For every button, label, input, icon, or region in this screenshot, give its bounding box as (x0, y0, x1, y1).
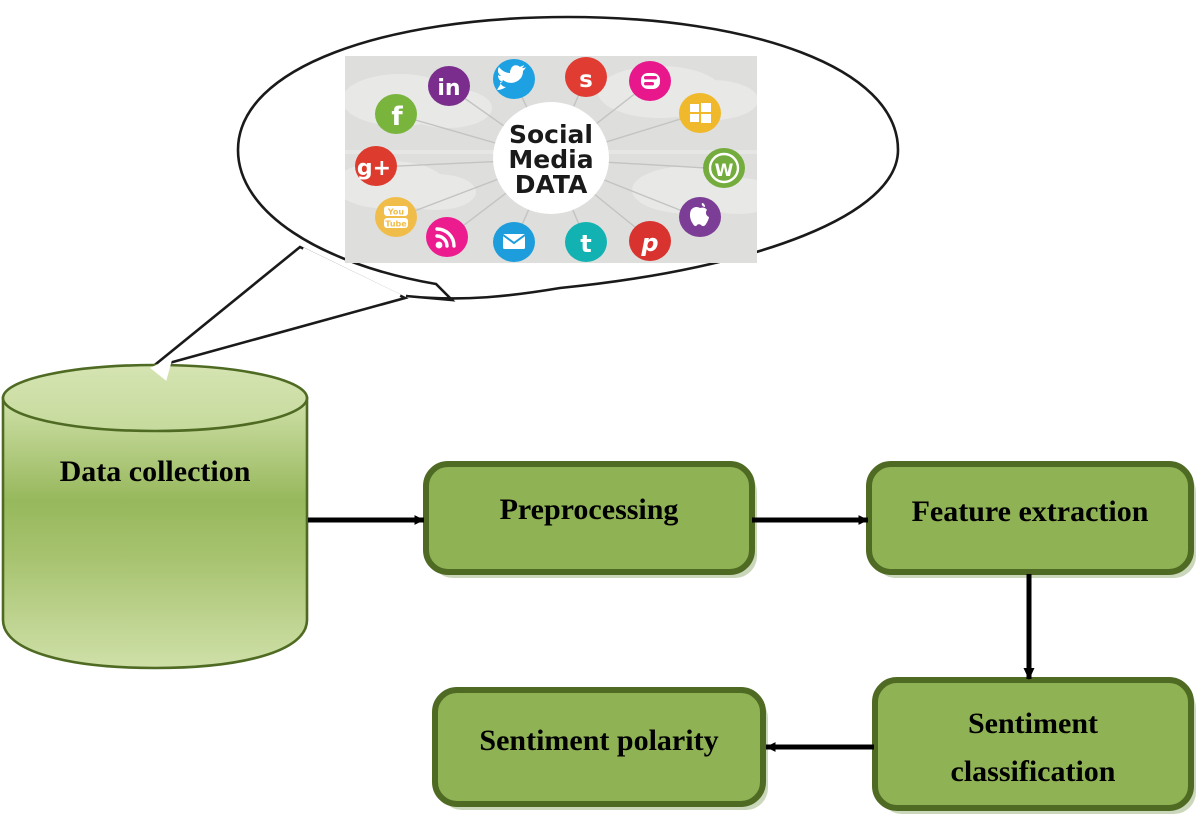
node-feature-extraction[interactable]: Feature extraction (869, 464, 1196, 578)
node-preprocessing[interactable]: Preprocessing (426, 464, 757, 578)
svg-text:t: t (580, 230, 591, 258)
apple-icon (679, 197, 721, 237)
node-label-sentiment-polarity: Sentiment polarity (479, 724, 718, 757)
svg-text:s: s (579, 67, 593, 93)
blogger-icon (629, 61, 671, 101)
googleplus-icon: g+ (355, 146, 397, 186)
hub-line-3: DATA (515, 170, 588, 199)
node-label-preprocessing: Preprocessing (500, 493, 679, 526)
flowchart-svg: Social Media DATA in s (0, 0, 1200, 821)
windows-icon (679, 93, 721, 133)
facebook-icon: f (375, 94, 417, 134)
svg-text:p: p (640, 229, 658, 257)
skype-icon: s (565, 57, 607, 97)
node-data-collection[interactable]: Data collection (3, 365, 307, 668)
svg-text:Tube: Tube (385, 220, 407, 229)
diagram-canvas: Social Media DATA in s (0, 0, 1200, 821)
svg-text:W: W (715, 161, 734, 181)
rss-icon (426, 217, 468, 257)
svg-text:in: in (437, 76, 460, 101)
cylinder-top (3, 365, 307, 431)
email-icon (493, 222, 535, 262)
node-label-sentiment-classification-line2: classification (951, 755, 1116, 788)
node-label-data-collection: Data collection (60, 455, 251, 488)
svg-text:g+: g+ (357, 156, 391, 181)
pinterest-icon: p (629, 221, 671, 261)
youtube-icon: You Tube (375, 197, 417, 237)
twitter-icon (493, 59, 535, 99)
cylinder-body (3, 398, 307, 668)
tumblr-icon: t (565, 222, 607, 262)
svg-text:You: You (387, 208, 405, 217)
wordpress-icon: W (703, 148, 745, 188)
node-label-sentiment-classification-line1: Sentiment (968, 707, 1098, 740)
svg-text:f: f (391, 102, 403, 132)
social-media-panel: Social Media DATA in s (334, 56, 780, 263)
linkedin-icon: in (428, 66, 470, 106)
node-sentiment-polarity[interactable]: Sentiment polarity (435, 690, 768, 810)
sentiment-classification-shape (875, 680, 1191, 808)
node-label-feature-extraction: Feature extraction (912, 495, 1149, 528)
node-sentiment-classification[interactable]: Sentiment classification (875, 680, 1196, 814)
